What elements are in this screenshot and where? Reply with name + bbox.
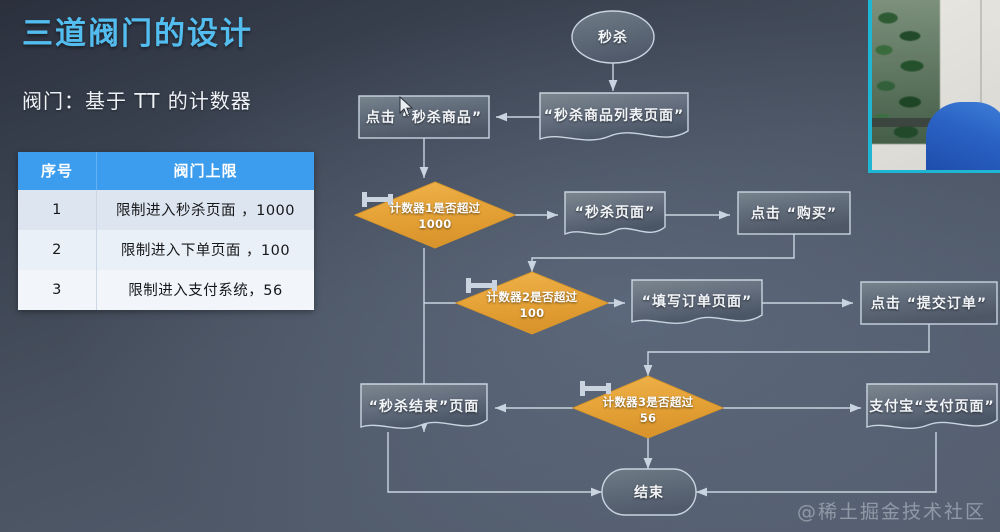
valve-icon xyxy=(466,278,497,293)
slide-canvas: 三道阀门的设计 阀门：基于 TT 的计数器 序号 阀门上限 1 限制进入秒杀页面… xyxy=(0,0,1000,532)
flow-node-end-page[interactable] xyxy=(361,384,487,428)
webcam-video-overlay[interactable] xyxy=(868,0,1000,173)
flow-node-click-buy[interactable] xyxy=(738,192,850,234)
mouse-pointer-icon xyxy=(399,96,415,118)
flow-node-click-item[interactable] xyxy=(359,96,489,138)
flow-node-list-page[interactable] xyxy=(540,93,688,140)
flowchart-diagram xyxy=(0,0,1000,532)
flow-node-alipay-page[interactable] xyxy=(867,384,997,428)
flow-node-counter1[interactable] xyxy=(355,182,515,248)
flow-node-submit-order[interactable] xyxy=(861,282,997,324)
flow-node-seckill-page[interactable] xyxy=(565,192,665,234)
video-presenter xyxy=(926,102,1000,173)
flow-node-start[interactable] xyxy=(572,11,654,63)
flow-node-end[interactable] xyxy=(602,469,696,515)
valve-icon xyxy=(580,381,611,396)
flow-node-counter2[interactable] xyxy=(456,272,608,334)
watermark: @稀土掘金技术社区 xyxy=(797,497,986,524)
flow-node-counter3[interactable] xyxy=(573,376,723,438)
valve-icon xyxy=(362,192,393,207)
flow-node-order-page[interactable] xyxy=(632,280,762,323)
